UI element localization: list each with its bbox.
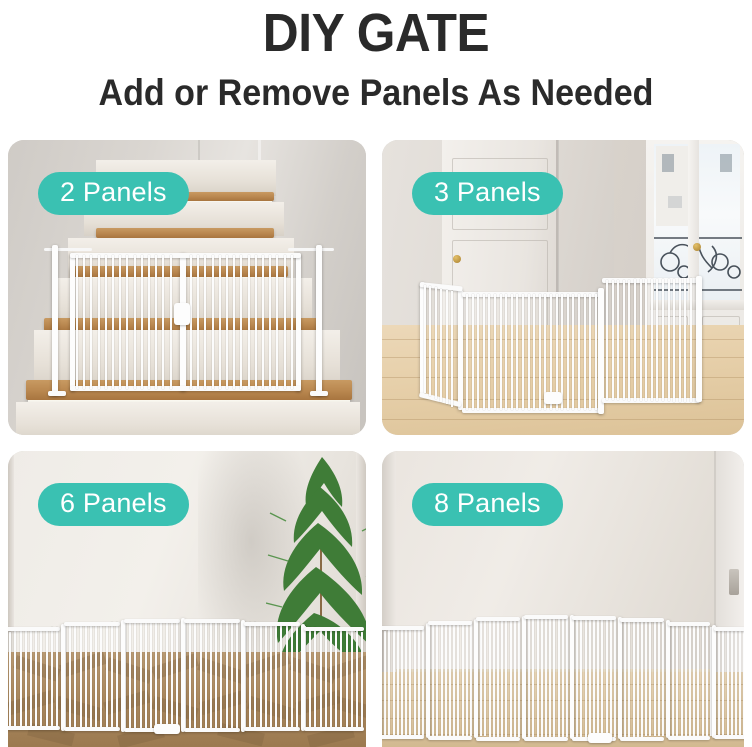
gate-bar bbox=[522, 294, 524, 410]
gate-bar bbox=[623, 280, 625, 401]
gate-divider-post bbox=[121, 620, 125, 732]
gate-bar bbox=[90, 255, 92, 389]
gate-bar bbox=[325, 628, 327, 729]
gate-bar bbox=[566, 617, 568, 737]
gate-bar bbox=[477, 294, 479, 410]
gate-bar bbox=[284, 255, 286, 389]
gate-bar bbox=[453, 623, 455, 736]
gate-bar bbox=[595, 294, 597, 410]
gate-bar bbox=[585, 617, 587, 737]
gate-bar bbox=[589, 617, 591, 737]
gate-bar bbox=[589, 294, 591, 410]
gate-bottom-rail bbox=[304, 727, 364, 731]
gate-bar bbox=[649, 621, 651, 737]
gate-bar bbox=[74, 625, 76, 729]
gate-bar bbox=[472, 294, 474, 410]
gate-latch[interactable] bbox=[154, 724, 180, 734]
badge-six-panels: 6 Panels bbox=[38, 483, 189, 526]
gate-bar bbox=[610, 618, 612, 737]
gate-bar bbox=[697, 625, 699, 736]
gate-center-post bbox=[598, 288, 604, 414]
gate-bar bbox=[702, 626, 704, 736]
gate-bar bbox=[134, 621, 136, 730]
gate-bar bbox=[684, 278, 686, 402]
gate-bar bbox=[690, 278, 692, 402]
gate-bar bbox=[340, 630, 342, 729]
gate-bar bbox=[249, 622, 251, 730]
french-door-handle-icon[interactable] bbox=[693, 243, 701, 251]
gate-bar bbox=[549, 617, 551, 737]
badge-eight-panels: 8 Panels bbox=[412, 483, 563, 526]
gate-bar bbox=[446, 290, 448, 405]
gate-top-rail bbox=[714, 627, 744, 631]
gate-bottom-rail bbox=[476, 737, 520, 741]
safety-gate-three-panels[interactable] bbox=[420, 280, 702, 410]
gate-bar bbox=[351, 631, 353, 729]
gate-bar bbox=[335, 629, 337, 729]
gate-bottom-rail bbox=[244, 727, 300, 731]
gate-bar bbox=[260, 623, 262, 730]
exterior-window bbox=[662, 154, 674, 172]
gate-bar bbox=[668, 279, 670, 402]
gate-bar bbox=[422, 626, 424, 736]
gate-bar bbox=[262, 255, 264, 389]
gate-bar bbox=[685, 624, 687, 736]
exterior-window bbox=[668, 196, 682, 208]
gate-bar bbox=[514, 618, 516, 737]
gate-divider-post bbox=[570, 615, 574, 739]
gate-bar bbox=[275, 624, 277, 730]
gate-bottom-rail bbox=[428, 736, 472, 740]
gate-bar bbox=[388, 630, 390, 735]
gate-bar bbox=[265, 623, 267, 730]
gate-bar bbox=[501, 619, 503, 737]
gate-bottom-rail bbox=[524, 737, 568, 741]
gate-divider-post bbox=[61, 624, 65, 731]
gate-latch[interactable] bbox=[588, 733, 612, 743]
gate-bar bbox=[518, 618, 520, 737]
gate-bar bbox=[567, 294, 569, 410]
gate-bottom-rail bbox=[668, 736, 710, 740]
gate-bar bbox=[718, 628, 720, 736]
gate-bar bbox=[580, 617, 582, 737]
gate-bar bbox=[470, 621, 472, 736]
gate-top-rail bbox=[428, 621, 472, 625]
stair-tread bbox=[96, 228, 274, 238]
gate-bar bbox=[200, 620, 202, 730]
gate-bar bbox=[578, 294, 580, 410]
gate-bar bbox=[528, 294, 530, 410]
gate-divider-post bbox=[241, 620, 245, 732]
gate-bar bbox=[85, 624, 87, 729]
gate-foot-left bbox=[48, 391, 66, 396]
gate-bar bbox=[330, 629, 332, 729]
gate-divider-post bbox=[522, 616, 526, 739]
gate-bar bbox=[69, 626, 71, 730]
gate-bar bbox=[51, 627, 53, 729]
safety-gate-six-panels[interactable] bbox=[8, 616, 366, 742]
gate-bar bbox=[190, 255, 192, 389]
gate-bar bbox=[528, 618, 530, 737]
gate-bar bbox=[584, 294, 586, 410]
gate-bar bbox=[162, 255, 164, 389]
gate-bar bbox=[220, 621, 222, 730]
gate-bar bbox=[533, 294, 535, 410]
gate-bar bbox=[658, 621, 660, 736]
gate-bar bbox=[270, 623, 272, 729]
gate-bar bbox=[155, 620, 157, 730]
gate-bar bbox=[435, 287, 437, 398]
gate-bar bbox=[233, 255, 235, 389]
gate-bar bbox=[140, 621, 142, 730]
gate-bar bbox=[166, 620, 168, 730]
gate-top-rail bbox=[124, 619, 180, 623]
gate-post-right bbox=[696, 276, 702, 402]
gate-bar bbox=[676, 623, 678, 736]
gate-bar bbox=[226, 255, 228, 389]
gate-bar bbox=[558, 617, 560, 737]
gate-bar bbox=[286, 624, 288, 729]
gate-bar bbox=[280, 624, 282, 729]
gate-bar bbox=[645, 620, 647, 736]
gate-bar bbox=[100, 623, 102, 729]
gate-top-rail bbox=[8, 627, 60, 631]
gate-bar bbox=[314, 627, 316, 729]
gate-bar bbox=[500, 294, 502, 410]
gate-extension-rod bbox=[288, 248, 334, 251]
gate-bar bbox=[111, 622, 113, 729]
gate-top-rail bbox=[476, 617, 520, 621]
gate-divider-post bbox=[426, 623, 430, 737]
gate-bar bbox=[204, 255, 206, 389]
gate-bar bbox=[681, 623, 683, 736]
gate-bar bbox=[291, 625, 293, 729]
gate-bar bbox=[497, 619, 499, 737]
gate-bar bbox=[572, 294, 574, 410]
gate-bar bbox=[597, 618, 599, 737]
gate-bar bbox=[633, 619, 635, 736]
gate-bar bbox=[505, 619, 507, 737]
gate-bar bbox=[449, 623, 451, 736]
gate-bar bbox=[219, 255, 221, 389]
gate-bar bbox=[735, 629, 737, 735]
gate-bar bbox=[269, 255, 271, 389]
gate-bar bbox=[493, 620, 495, 737]
door-handle-icon[interactable] bbox=[729, 569, 739, 595]
gate-bar bbox=[90, 624, 92, 730]
gate-bar bbox=[320, 628, 322, 729]
stair-tread bbox=[176, 192, 274, 201]
gate-bar bbox=[160, 620, 162, 730]
gate-bar bbox=[562, 617, 564, 737]
gate-bar bbox=[727, 629, 729, 736]
gate-bar bbox=[194, 620, 196, 730]
gate-bar bbox=[541, 617, 543, 737]
gate-bar bbox=[76, 255, 78, 389]
gate-frame-right bbox=[296, 253, 301, 391]
gate-bar bbox=[401, 629, 403, 736]
gate-bottom-rail bbox=[64, 727, 120, 731]
gate-bar bbox=[361, 632, 363, 728]
page-title: DIY GATE bbox=[30, 0, 722, 60]
gate-bar bbox=[226, 621, 228, 730]
gate-bar bbox=[418, 627, 420, 736]
gate-bar bbox=[9, 632, 11, 729]
gate-bar bbox=[645, 279, 647, 401]
gate-bar bbox=[83, 255, 85, 389]
gate-bar bbox=[440, 289, 442, 402]
gate-top-rail bbox=[382, 626, 424, 630]
badge-three-panels: 3 Panels bbox=[412, 172, 563, 215]
gate-bar bbox=[80, 625, 82, 730]
gate-top-rail bbox=[64, 622, 120, 626]
gate-bar bbox=[539, 294, 541, 410]
gate-bar bbox=[436, 625, 438, 736]
gate-bar bbox=[236, 621, 238, 730]
gate-bar bbox=[432, 625, 434, 736]
gate-bar bbox=[505, 294, 507, 410]
gate-post-left bbox=[52, 245, 58, 395]
gate-bar bbox=[662, 279, 664, 402]
gate-divider-post bbox=[712, 625, 716, 738]
gate-bar bbox=[356, 631, 358, 728]
gate-latch[interactable] bbox=[174, 303, 190, 325]
gate-bar bbox=[197, 255, 199, 389]
gate-bar bbox=[576, 617, 578, 737]
gate-top-rail bbox=[572, 616, 616, 620]
gate-bar bbox=[276, 255, 278, 389]
gate-bar bbox=[150, 621, 152, 730]
gate-bar bbox=[291, 255, 293, 389]
gate-bar bbox=[593, 617, 595, 737]
gate-bar bbox=[641, 620, 643, 737]
gate-bar bbox=[176, 620, 178, 730]
gate-bar bbox=[414, 627, 416, 736]
gate-bar bbox=[743, 631, 744, 736]
gate-bar bbox=[601, 618, 603, 737]
gate-bar bbox=[141, 255, 143, 389]
gate-divider-post bbox=[666, 620, 670, 738]
page-subtitle: Add or Remove Panels As Needed bbox=[30, 60, 722, 111]
gate-divider-post bbox=[181, 618, 185, 732]
gate-bar bbox=[409, 628, 411, 736]
gate-bar bbox=[640, 279, 642, 401]
gate-bar bbox=[679, 278, 681, 401]
gate-bar bbox=[656, 279, 658, 401]
gate-bar bbox=[489, 620, 491, 737]
gate-bar bbox=[637, 620, 639, 737]
stair-riser bbox=[16, 402, 360, 435]
gate-bar bbox=[189, 620, 191, 730]
gallery-card-three-panels[interactable]: 3 Panels bbox=[382, 140, 744, 435]
gate-bar bbox=[553, 617, 555, 737]
gate-bar bbox=[511, 294, 513, 410]
gate-bar bbox=[662, 622, 664, 737]
gate-bar bbox=[56, 627, 58, 729]
gate-bar bbox=[129, 621, 131, 729]
gate-bar bbox=[155, 255, 157, 389]
gate-foot-right bbox=[310, 391, 328, 396]
gate-bar bbox=[231, 621, 233, 730]
gate-post-right bbox=[316, 245, 322, 395]
gate-bar bbox=[706, 626, 708, 736]
gate-bar bbox=[116, 622, 118, 730]
gate-bar bbox=[441, 624, 443, 736]
gate-bar bbox=[134, 255, 136, 389]
gate-bar bbox=[309, 627, 311, 729]
gate-bar bbox=[654, 621, 656, 737]
gate-top-rail bbox=[304, 627, 364, 631]
gate-bar bbox=[516, 294, 518, 410]
gate-bar bbox=[466, 622, 468, 737]
gate-bar bbox=[240, 255, 242, 389]
gate-bar bbox=[457, 622, 459, 736]
gate-bar bbox=[210, 620, 212, 730]
gate-bar bbox=[296, 625, 298, 729]
door-knob-icon[interactable] bbox=[453, 255, 461, 263]
gate-bar bbox=[483, 294, 485, 410]
gate-bottom-rail bbox=[8, 726, 60, 730]
gate-bar bbox=[462, 622, 464, 736]
gate-bar bbox=[254, 622, 256, 729]
gate-bar bbox=[46, 628, 48, 729]
gate-bar bbox=[171, 620, 173, 730]
gate-bottom-rail bbox=[184, 728, 240, 732]
gate-bar bbox=[126, 255, 128, 389]
gate-bar bbox=[95, 623, 97, 729]
gate-bar bbox=[673, 279, 675, 402]
gate-bar bbox=[466, 294, 468, 410]
header: DIY GATE Add or Remove Panels As Needed bbox=[0, 0, 752, 132]
gate-bar bbox=[106, 623, 108, 730]
gate-bar bbox=[25, 630, 27, 729]
panel-gallery-grid: 2 Panels bbox=[0, 132, 752, 747]
gate-bar bbox=[672, 623, 674, 737]
gate-bottom-rail bbox=[382, 735, 424, 739]
gate-divider-post bbox=[474, 619, 478, 739]
gate-bar bbox=[510, 619, 512, 737]
gate-bar bbox=[606, 618, 608, 737]
gate-top-rail bbox=[668, 622, 710, 626]
gate-bar bbox=[651, 279, 653, 401]
gate-bar bbox=[215, 620, 217, 730]
safety-gate-two-panels[interactable] bbox=[44, 245, 332, 395]
gate-bar bbox=[628, 619, 630, 737]
gate-bottom-rail bbox=[620, 737, 664, 741]
gate-bar bbox=[451, 291, 453, 407]
gate-bar bbox=[624, 619, 626, 737]
gate-bar bbox=[545, 617, 547, 737]
gate-latch[interactable] bbox=[544, 392, 562, 404]
gallery-card-six-panels[interactable]: 6 Panels bbox=[8, 451, 366, 747]
gate-divider-post bbox=[301, 624, 305, 731]
gate-bar bbox=[384, 631, 386, 736]
gate-bar bbox=[484, 620, 486, 736]
gate-bar bbox=[494, 294, 496, 410]
gate-bar bbox=[40, 628, 42, 728]
gate-bar bbox=[731, 629, 733, 735]
gate-top-rail bbox=[620, 618, 664, 622]
gate-bar bbox=[98, 255, 100, 389]
gate-bar bbox=[689, 624, 691, 736]
gate-bar bbox=[255, 255, 257, 389]
gate-bar bbox=[397, 629, 399, 735]
gate-bar bbox=[488, 294, 490, 410]
gate-bar bbox=[119, 255, 121, 389]
gate-bar bbox=[445, 624, 447, 736]
gate-bar bbox=[248, 255, 250, 389]
gate-bar bbox=[537, 617, 539, 737]
gate-top-rail bbox=[524, 615, 568, 619]
gate-bar bbox=[532, 618, 534, 737]
gate-bar bbox=[14, 631, 16, 728]
gate-bar bbox=[405, 628, 407, 735]
gate-bar bbox=[205, 620, 207, 730]
badge-two-panels: 2 Panels bbox=[38, 172, 189, 215]
gate-bar bbox=[212, 255, 214, 389]
exterior-window bbox=[720, 154, 732, 172]
gate-bar bbox=[617, 280, 619, 401]
gate-bar bbox=[614, 618, 616, 737]
gate-bar bbox=[105, 255, 107, 389]
gate-bar bbox=[112, 255, 114, 389]
gate-bar bbox=[722, 628, 724, 736]
gate-bar bbox=[145, 621, 147, 730]
gate-bar bbox=[30, 629, 32, 728]
gate-bar bbox=[424, 285, 426, 393]
gate-bar bbox=[170, 255, 172, 389]
gate-bar bbox=[346, 630, 348, 728]
gate-bar bbox=[429, 286, 431, 396]
gate-top-rail bbox=[244, 622, 300, 626]
gate-bar bbox=[35, 629, 37, 729]
gate-bottom-rail bbox=[714, 735, 744, 739]
gate-bar bbox=[628, 280, 630, 401]
gate-bar bbox=[739, 630, 741, 735]
gallery-card-eight-panels[interactable]: 8 Panels bbox=[382, 451, 744, 747]
gate-bar bbox=[20, 630, 22, 728]
gate-bar bbox=[634, 279, 636, 400]
gate-bar bbox=[606, 280, 608, 400]
gate-bar bbox=[393, 630, 395, 736]
gate-bar bbox=[148, 255, 150, 389]
gallery-card-two-panels[interactable]: 2 Panels bbox=[8, 140, 366, 435]
gate-frame-left bbox=[70, 253, 75, 391]
gate-hinge-post bbox=[458, 290, 463, 410]
gate-bar bbox=[480, 620, 482, 736]
gate-bar bbox=[693, 625, 695, 736]
gate-bar bbox=[612, 280, 614, 400]
safety-gate-eight-panels[interactable] bbox=[382, 611, 744, 747]
gate-top-rail bbox=[184, 619, 240, 623]
gate-divider-post bbox=[618, 617, 622, 739]
